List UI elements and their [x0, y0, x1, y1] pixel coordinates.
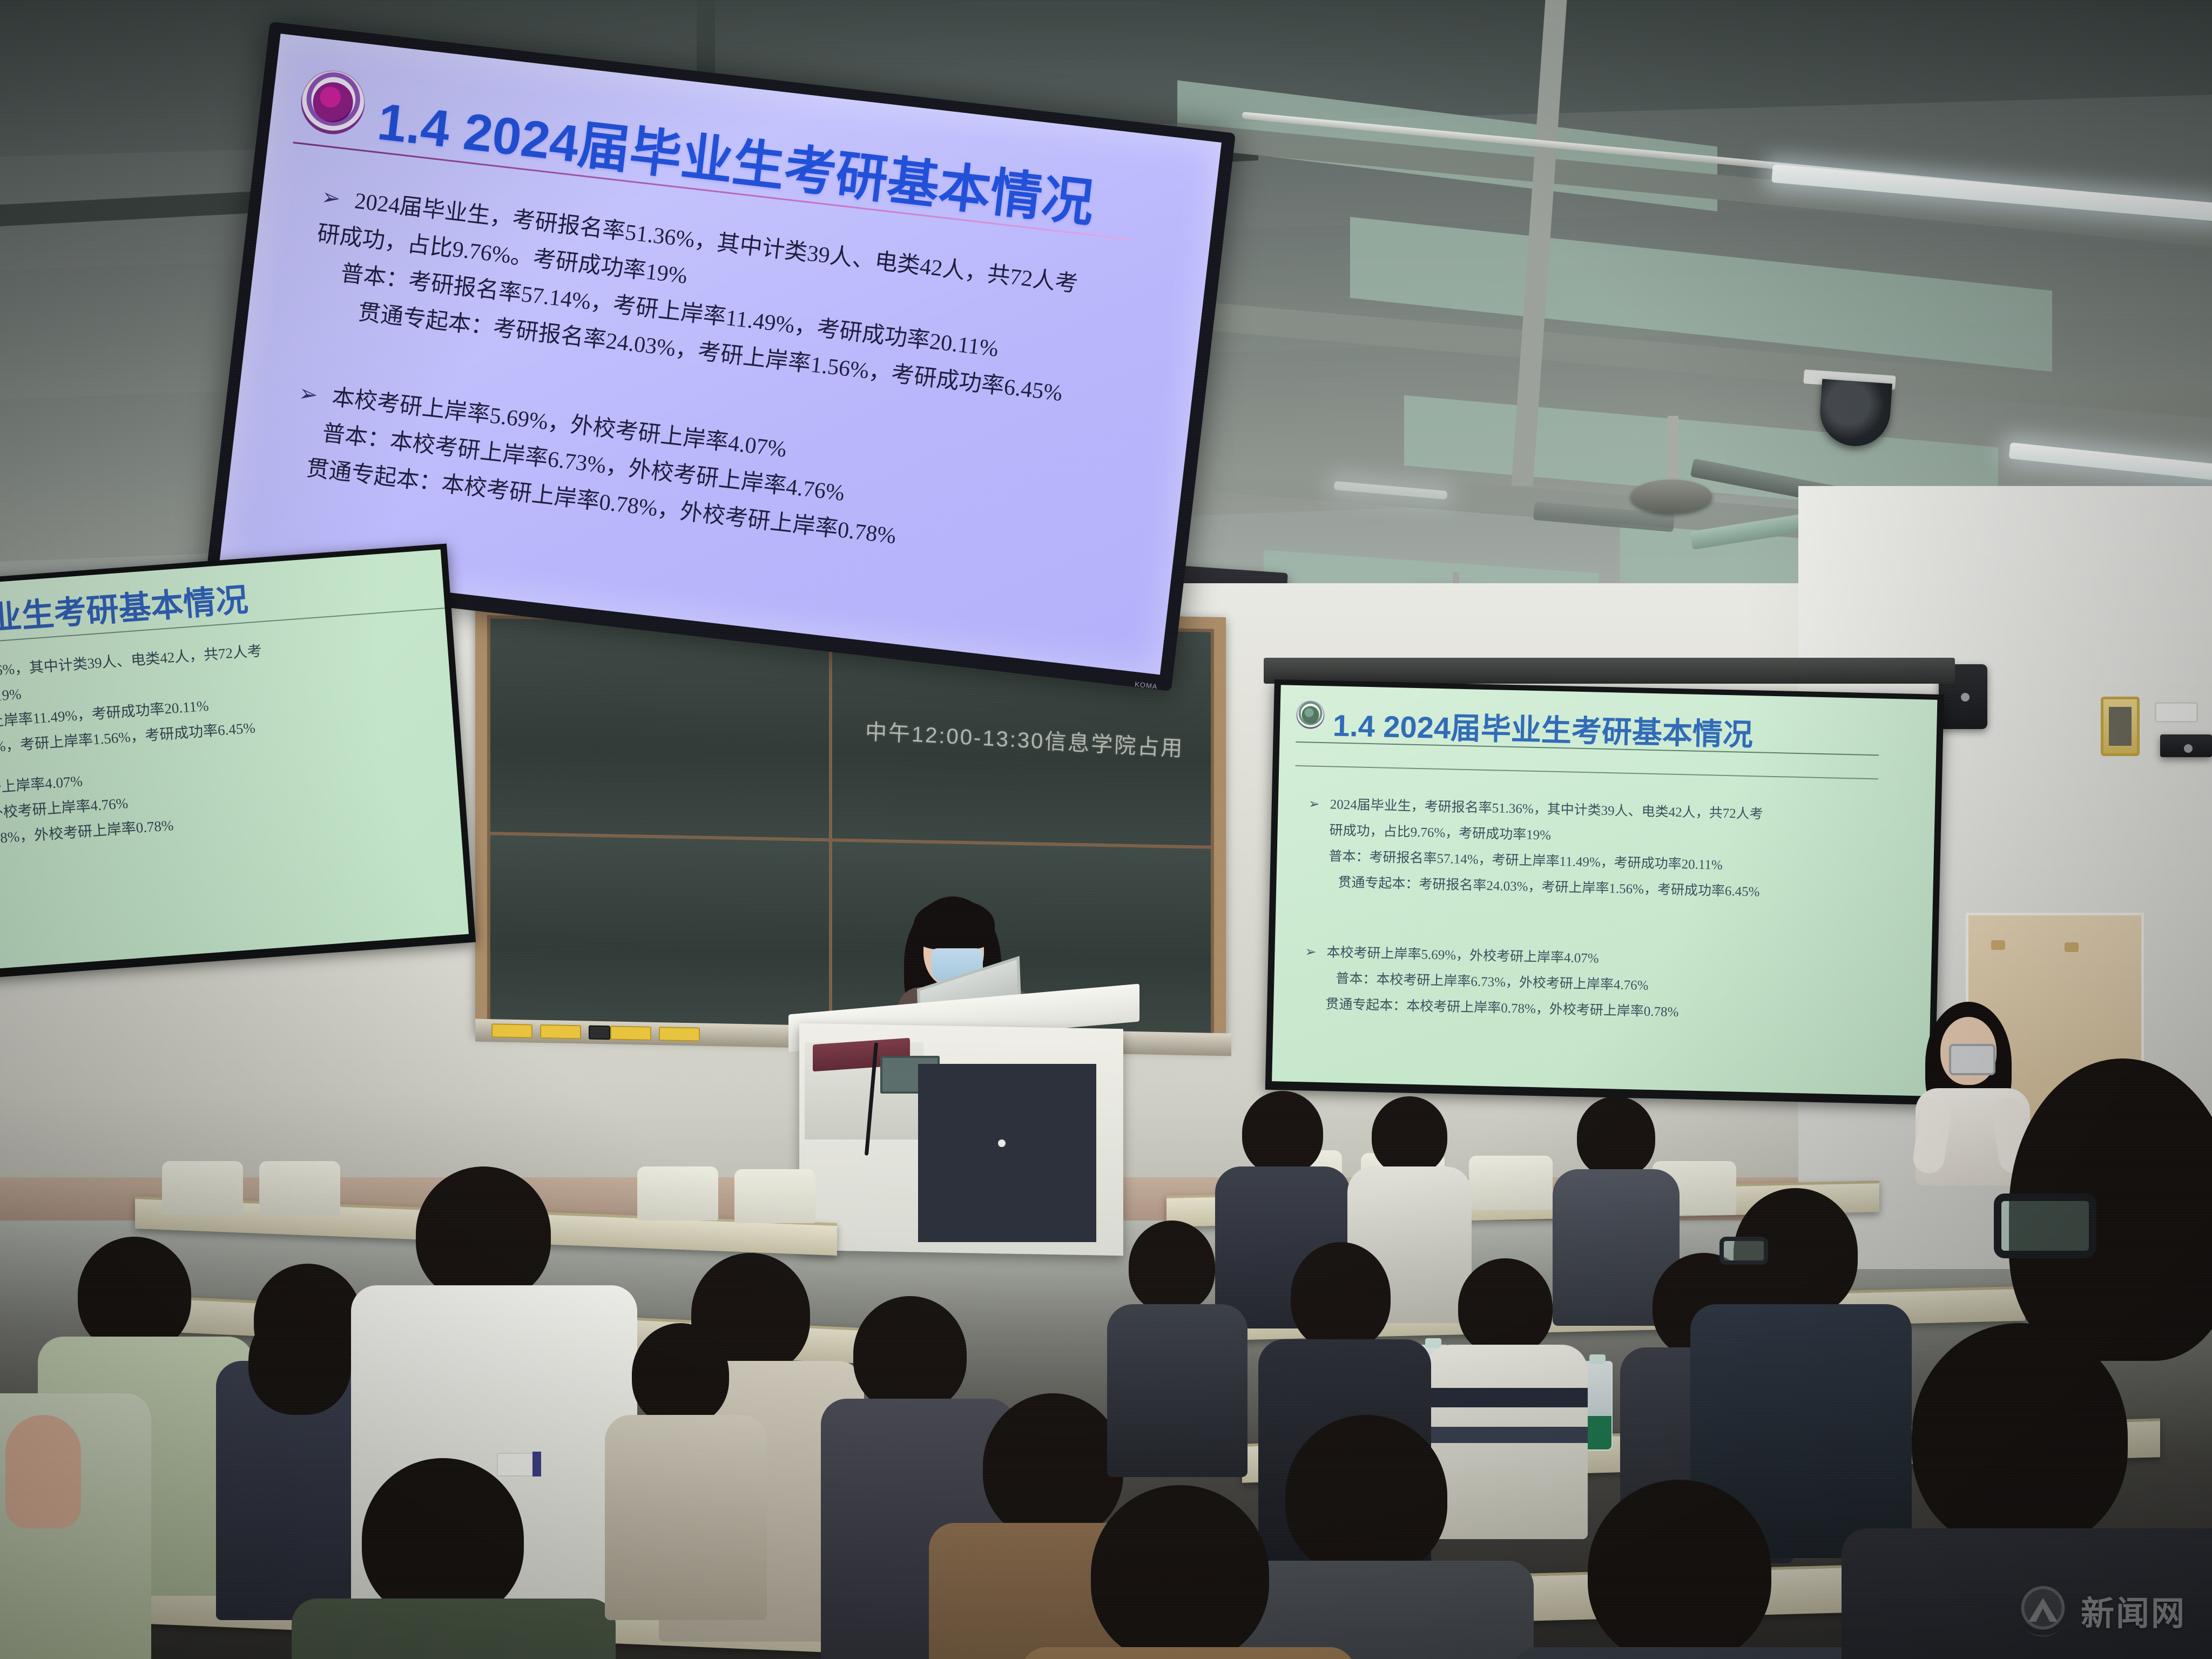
fire-alarm-icon[interactable]	[2101, 697, 2140, 756]
podium-front-panel	[918, 1064, 1096, 1242]
student-head	[416, 1166, 551, 1301]
student-head	[1285, 1415, 1447, 1577]
student-head	[1291, 1242, 1391, 1350]
ceiling-fan-hub	[1631, 480, 1712, 513]
bullet-marker: ➢	[1308, 791, 1330, 818]
glasses-icon	[1719, 1237, 1768, 1265]
coat-hook-icon[interactable]	[2065, 942, 2079, 952]
shirt-tag	[532, 1452, 541, 1476]
university-seal-icon	[1296, 700, 1325, 729]
student-head	[1242, 1091, 1323, 1175]
right-projection-screen: 1.4 2024届毕业生考研基本情况 ➢ 2024届毕业生，考研报名率51.36…	[1265, 679, 1944, 1105]
student-head	[1577, 1096, 1655, 1177]
left-projection-surface: 4 2024届毕业生考研基本情况 届毕业生，考研报名率51.36%，其中计类39…	[0, 549, 469, 978]
student-head	[362, 1458, 524, 1620]
seat-back[interactable]	[162, 1161, 243, 1215]
student-head	[632, 1323, 729, 1426]
slide-title: 4 2024届毕业生考研基本情况	[0, 574, 249, 651]
chalk-box-icon	[540, 1024, 581, 1039]
projection-screen-roller	[1264, 658, 1955, 684]
glasses-icon	[1994, 1193, 2096, 1258]
smartphone-icon	[1949, 1044, 1995, 1075]
ncut-seal-icon	[2017, 1584, 2069, 1636]
student-body	[292, 1599, 616, 1659]
chalk-box-icon	[491, 1023, 532, 1038]
wall-speaker-icon	[2160, 734, 2212, 757]
chalk-box-icon	[589, 1026, 610, 1040]
seat-back[interactable]	[637, 1166, 718, 1220]
watermark-text: 新闻网	[2081, 1586, 2186, 1635]
slide-right-bullet-2: ➢ 本校考研上岸率5.69%，外校考研上岸率4.07% 普本：本校考研上岸率6.…	[1304, 939, 1889, 1030]
student-head	[983, 1393, 1123, 1539]
coat-hook-icon[interactable]	[1991, 940, 2005, 950]
student-body	[605, 1415, 767, 1620]
watermark: 新闻网	[2017, 1584, 2186, 1636]
photographer	[1914, 1002, 2033, 1180]
blackboard-panel	[487, 615, 836, 842]
slide-left-body: 届毕业生，考研报名率51.36%，其中计类39人、电类42人，共72人考 ，占比…	[0, 625, 462, 863]
university-seal-icon	[298, 67, 368, 138]
bullet-marker: ➢	[296, 375, 334, 416]
student-head	[853, 1296, 967, 1412]
student-hand	[5, 1415, 81, 1528]
bullet-marker: ➢	[1305, 939, 1327, 966]
podium-indicator-dot	[998, 1139, 1006, 1147]
student-head	[1091, 1485, 1269, 1659]
student-head	[1129, 1220, 1215, 1312]
left-projection-screen: 4 2024届毕业生考研基本情况 届毕业生，考研报名率51.36%，其中计类39…	[0, 544, 476, 988]
student-body	[1021, 1647, 1355, 1659]
slide-left: 4 2024届毕业生考研基本情况 届毕业生，考研报名率51.36%，其中计类39…	[0, 549, 469, 978]
chalk-box-icon	[610, 1026, 651, 1040]
seat-back[interactable]	[734, 1169, 815, 1223]
slide-right-bullet-1: ➢ 2024届毕业生，考研报名率51.36%，其中计类39人、电类42人，共72…	[1306, 791, 1892, 908]
student-body	[1512, 1647, 1869, 1659]
presenter-hair-front	[914, 900, 995, 949]
slide-title-rule-2	[1295, 765, 1878, 780]
blackboard-panel	[487, 832, 836, 1030]
seat-back[interactable]	[259, 1161, 340, 1215]
student-head	[1588, 1480, 1771, 1659]
seat-back[interactable]	[1469, 1156, 1553, 1210]
wall-outlet-plate[interactable]	[2155, 702, 2198, 723]
chalk-box-icon	[659, 1027, 700, 1041]
stripe	[1426, 1388, 1588, 1407]
student-head	[1372, 1096, 1447, 1175]
student-head	[1458, 1258, 1553, 1355]
stripe	[1426, 1427, 1588, 1443]
slide-right: 1.4 2024届毕业生考研基本情况 ➢ 2024届毕业生，考研报名率51.36…	[1272, 685, 1937, 1096]
right-projection-surface: 1.4 2024届毕业生考研基本情况 ➢ 2024届毕业生，考研报名率51.36…	[1272, 685, 1937, 1096]
student-body	[1107, 1304, 1247, 1477]
student-head	[78, 1237, 191, 1353]
ceiling-fan-rod	[1668, 416, 1678, 481]
bullet-marker: ➢	[319, 179, 356, 219]
lecture-hall-photo: 中午12:00-13:30信息学院占用 1.4 2024届毕业生考研基本情况 ➢	[0, 0, 2212, 1659]
student-head	[248, 1307, 351, 1415]
